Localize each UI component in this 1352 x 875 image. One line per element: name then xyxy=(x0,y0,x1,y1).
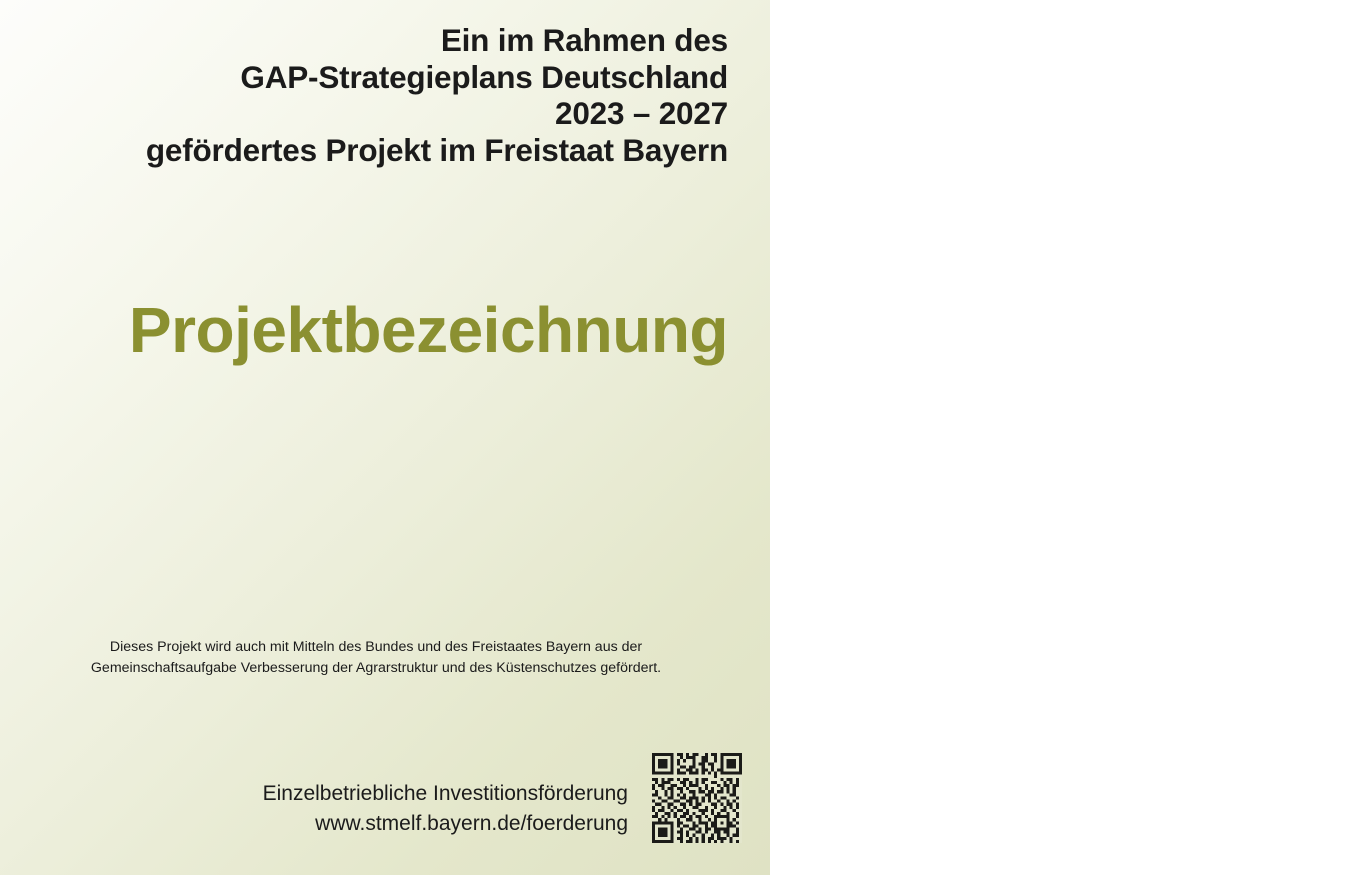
funding-note-line-2: Gemeinschaftsaufgabe Verbesserung der Ag… xyxy=(24,658,728,679)
headline-line-3: 2023 – 2027 xyxy=(30,95,728,132)
page-title: Projektbezeichnung xyxy=(0,298,728,362)
scheme-url[interactable]: www.stmelf.bayern.de/foerderung xyxy=(263,809,628,839)
funding-note: Dieses Projekt wird auch mit Mitteln des… xyxy=(24,637,728,679)
funding-poster: Ein im Rahmen des GAP-Strategieplans Deu… xyxy=(0,0,1352,875)
right-panel: Gefördert durch Bayerisches Staatsminist… xyxy=(770,0,1352,875)
funding-note-line-1: Dieses Projekt wird auch mit Mitteln des… xyxy=(24,637,728,658)
headline-line-1: Ein im Rahmen des xyxy=(30,22,728,59)
left-panel: Ein im Rahmen des GAP-Strategieplans Deu… xyxy=(0,0,770,875)
scheme-text: Einzelbetriebliche Investitionsförderung… xyxy=(263,779,628,839)
headline: Ein im Rahmen des GAP-Strategieplans Deu… xyxy=(30,22,728,168)
qr-code[interactable] xyxy=(652,753,742,843)
headline-line-4: gefördertes Projekt im Freistaat Bayern xyxy=(30,132,728,169)
scheme-name: Einzelbetriebliche Investitionsförderung xyxy=(263,779,628,809)
scheme-block: Einzelbetriebliche Investitionsförderung… xyxy=(0,751,770,861)
headline-line-2: GAP-Strategieplans Deutschland xyxy=(30,59,728,96)
